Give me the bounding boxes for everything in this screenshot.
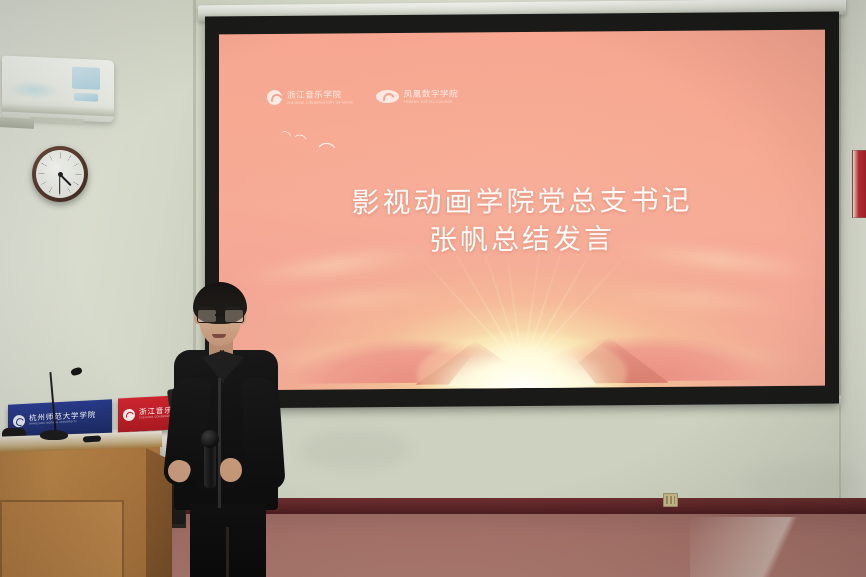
slide-logo-row: 浙江音乐学院 ZHEJIANG CONSERVATORY OF MUSIC 凤凰… [267, 89, 458, 106]
wall-seam-right [839, 0, 841, 520]
lecture-hall-photo: 浙江音乐学院 ZHEJIANG CONSERVATORY OF MUSIC 凤凰… [0, 0, 866, 577]
wall-stain [300, 430, 410, 470]
right-wall-panel [840, 0, 866, 520]
presenter-mouth [212, 334, 226, 338]
slide-title-line-1: 影视动画学院党总支书记 [219, 182, 825, 225]
glasses-bridge [215, 314, 224, 316]
presenter-shirt-placket [218, 378, 221, 508]
presenter-hand-right [220, 458, 242, 482]
swirl-logo-icon [267, 90, 282, 105]
podium-mic-base [40, 430, 68, 440]
slide-title-line-2: 张帆总结发言 [219, 220, 825, 263]
wall-poster [852, 150, 866, 218]
logo-primary-en: ZHEJIANG CONSERVATORY OF MUSIC [287, 100, 354, 105]
presenter [160, 282, 292, 577]
handheld-microphone-body [204, 442, 216, 488]
banner-blue-logo-icon [13, 415, 25, 428]
ac-logo-decal [8, 80, 60, 100]
logo-primary-cn: 浙江音乐学院 [287, 90, 354, 100]
slide-surface: 浙江音乐学院 ZHEJIANG CONSERVATORY OF MUSIC 凤凰… [219, 30, 825, 391]
air-conditioner [2, 56, 114, 123]
logo-secondary-cn: 凤凰数字学院 [404, 89, 459, 98]
podium-remote-control [83, 436, 101, 443]
power-outlet-icon [663, 493, 678, 507]
wall-clock [32, 146, 88, 202]
university-logo-primary: 浙江音乐学院 ZHEJIANG CONSERVATORY OF MUSIC [267, 89, 354, 105]
logo-secondary-en: PHOENIX DIGITAL COLLEGE [404, 99, 459, 103]
ac-pipe [0, 117, 34, 129]
ac-display-panel [72, 67, 100, 90]
bird-icon [315, 142, 337, 155]
presenter-leg-gap [226, 527, 229, 577]
cloud-streak [599, 287, 799, 312]
slide-title: 影视动画学院党总支书记 张帆总结发言 [219, 182, 825, 263]
oval-logo-icon [376, 90, 399, 103]
handheld-microphone-head [201, 430, 219, 448]
bird-icon [292, 134, 307, 143]
ac-louver [2, 104, 114, 117]
clock-face [36, 150, 84, 198]
wall-stain [740, 460, 860, 500]
clock-numerals [36, 150, 84, 198]
banner-red-logo-icon [123, 409, 135, 422]
projection-screen: 浙江音乐学院 ZHEJIANG CONSERVATORY OF MUSIC 凤凰… [205, 12, 839, 409]
glasses-lens-left [197, 309, 217, 323]
floor-highlight [690, 517, 866, 577]
presenter-arm-right [240, 377, 286, 491]
glasses-icon [197, 309, 243, 321]
bird-icon [280, 130, 293, 139]
ac-vent-indicator [74, 93, 98, 102]
podium-front-inset [0, 500, 124, 577]
glasses-lens-right [224, 309, 244, 323]
college-logo-secondary: 凤凰数字学院 PHOENIX DIGITAL COLLEGE [376, 89, 459, 104]
